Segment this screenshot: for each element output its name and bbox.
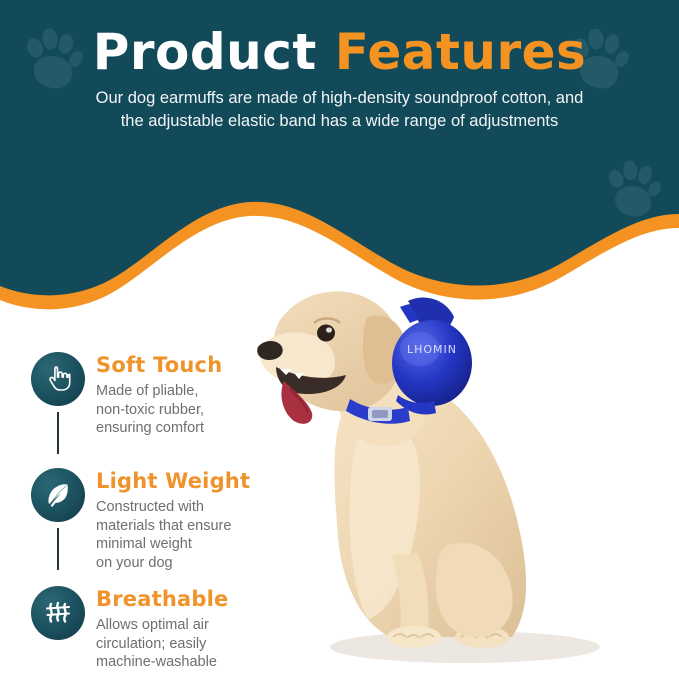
feather-icon [42, 479, 74, 511]
feature-icon-column [24, 468, 92, 570]
feature-title: Soft Touch [96, 354, 222, 377]
feature-icon-badge [31, 468, 85, 522]
feature-icon-column [24, 352, 92, 454]
feature-title: Breathable [96, 588, 228, 611]
earmuff-brand-label: LHOMIN [407, 343, 457, 356]
title-word-product: Product [93, 23, 317, 81]
subtitle-line-1: Our dog earmuffs are made of high-densit… [96, 89, 584, 107]
feature-connector-line [57, 412, 59, 454]
feature-title: Light Weight [96, 470, 250, 493]
feature-description: Allows optimal air circulation; easily m… [96, 616, 228, 672]
feature-icon-badge [31, 586, 85, 640]
feature-description: Made of pliable, non-toxic rubber, ensur… [96, 382, 222, 438]
feature-item-breathable: Breathable Allows optimal air circulatio… [24, 586, 289, 672]
subtitle: Our dog earmuffs are made of high-densit… [35, 87, 645, 134]
feature-connector-line [57, 528, 59, 570]
pointing-hand-icon [43, 364, 73, 394]
dog-product-photo: LHOMIN [250, 255, 679, 679]
header: Product Features Our dog earmuffs are ma… [0, 0, 679, 133]
product-features-infographic: Product Features Our dog earmuffs are ma… [0, 0, 679, 679]
subtitle-line-2: the adjustable elastic band has a wide r… [121, 112, 559, 130]
feature-list: Soft Touch Made of pliable, non-toxic ru… [24, 352, 289, 672]
feature-text-column: Breathable Allows optimal air circulatio… [92, 586, 228, 672]
paw-print-icon [604, 158, 662, 222]
feature-icon-column [24, 586, 92, 640]
airflow-icon [43, 598, 73, 628]
feature-text-column: Light Weight Constructed with materials … [92, 468, 250, 572]
feature-text-column: Soft Touch Made of pliable, non-toxic ru… [92, 352, 222, 438]
feature-icon-badge [31, 352, 85, 406]
feature-item-light-weight: Light Weight Constructed with materials … [24, 468, 289, 572]
page-title: Product Features [0, 0, 679, 79]
title-word-features: Features [335, 23, 587, 81]
feature-item-soft-touch: Soft Touch Made of pliable, non-toxic ru… [24, 352, 289, 454]
feature-description: Constructed with materials that ensure m… [96, 498, 250, 572]
